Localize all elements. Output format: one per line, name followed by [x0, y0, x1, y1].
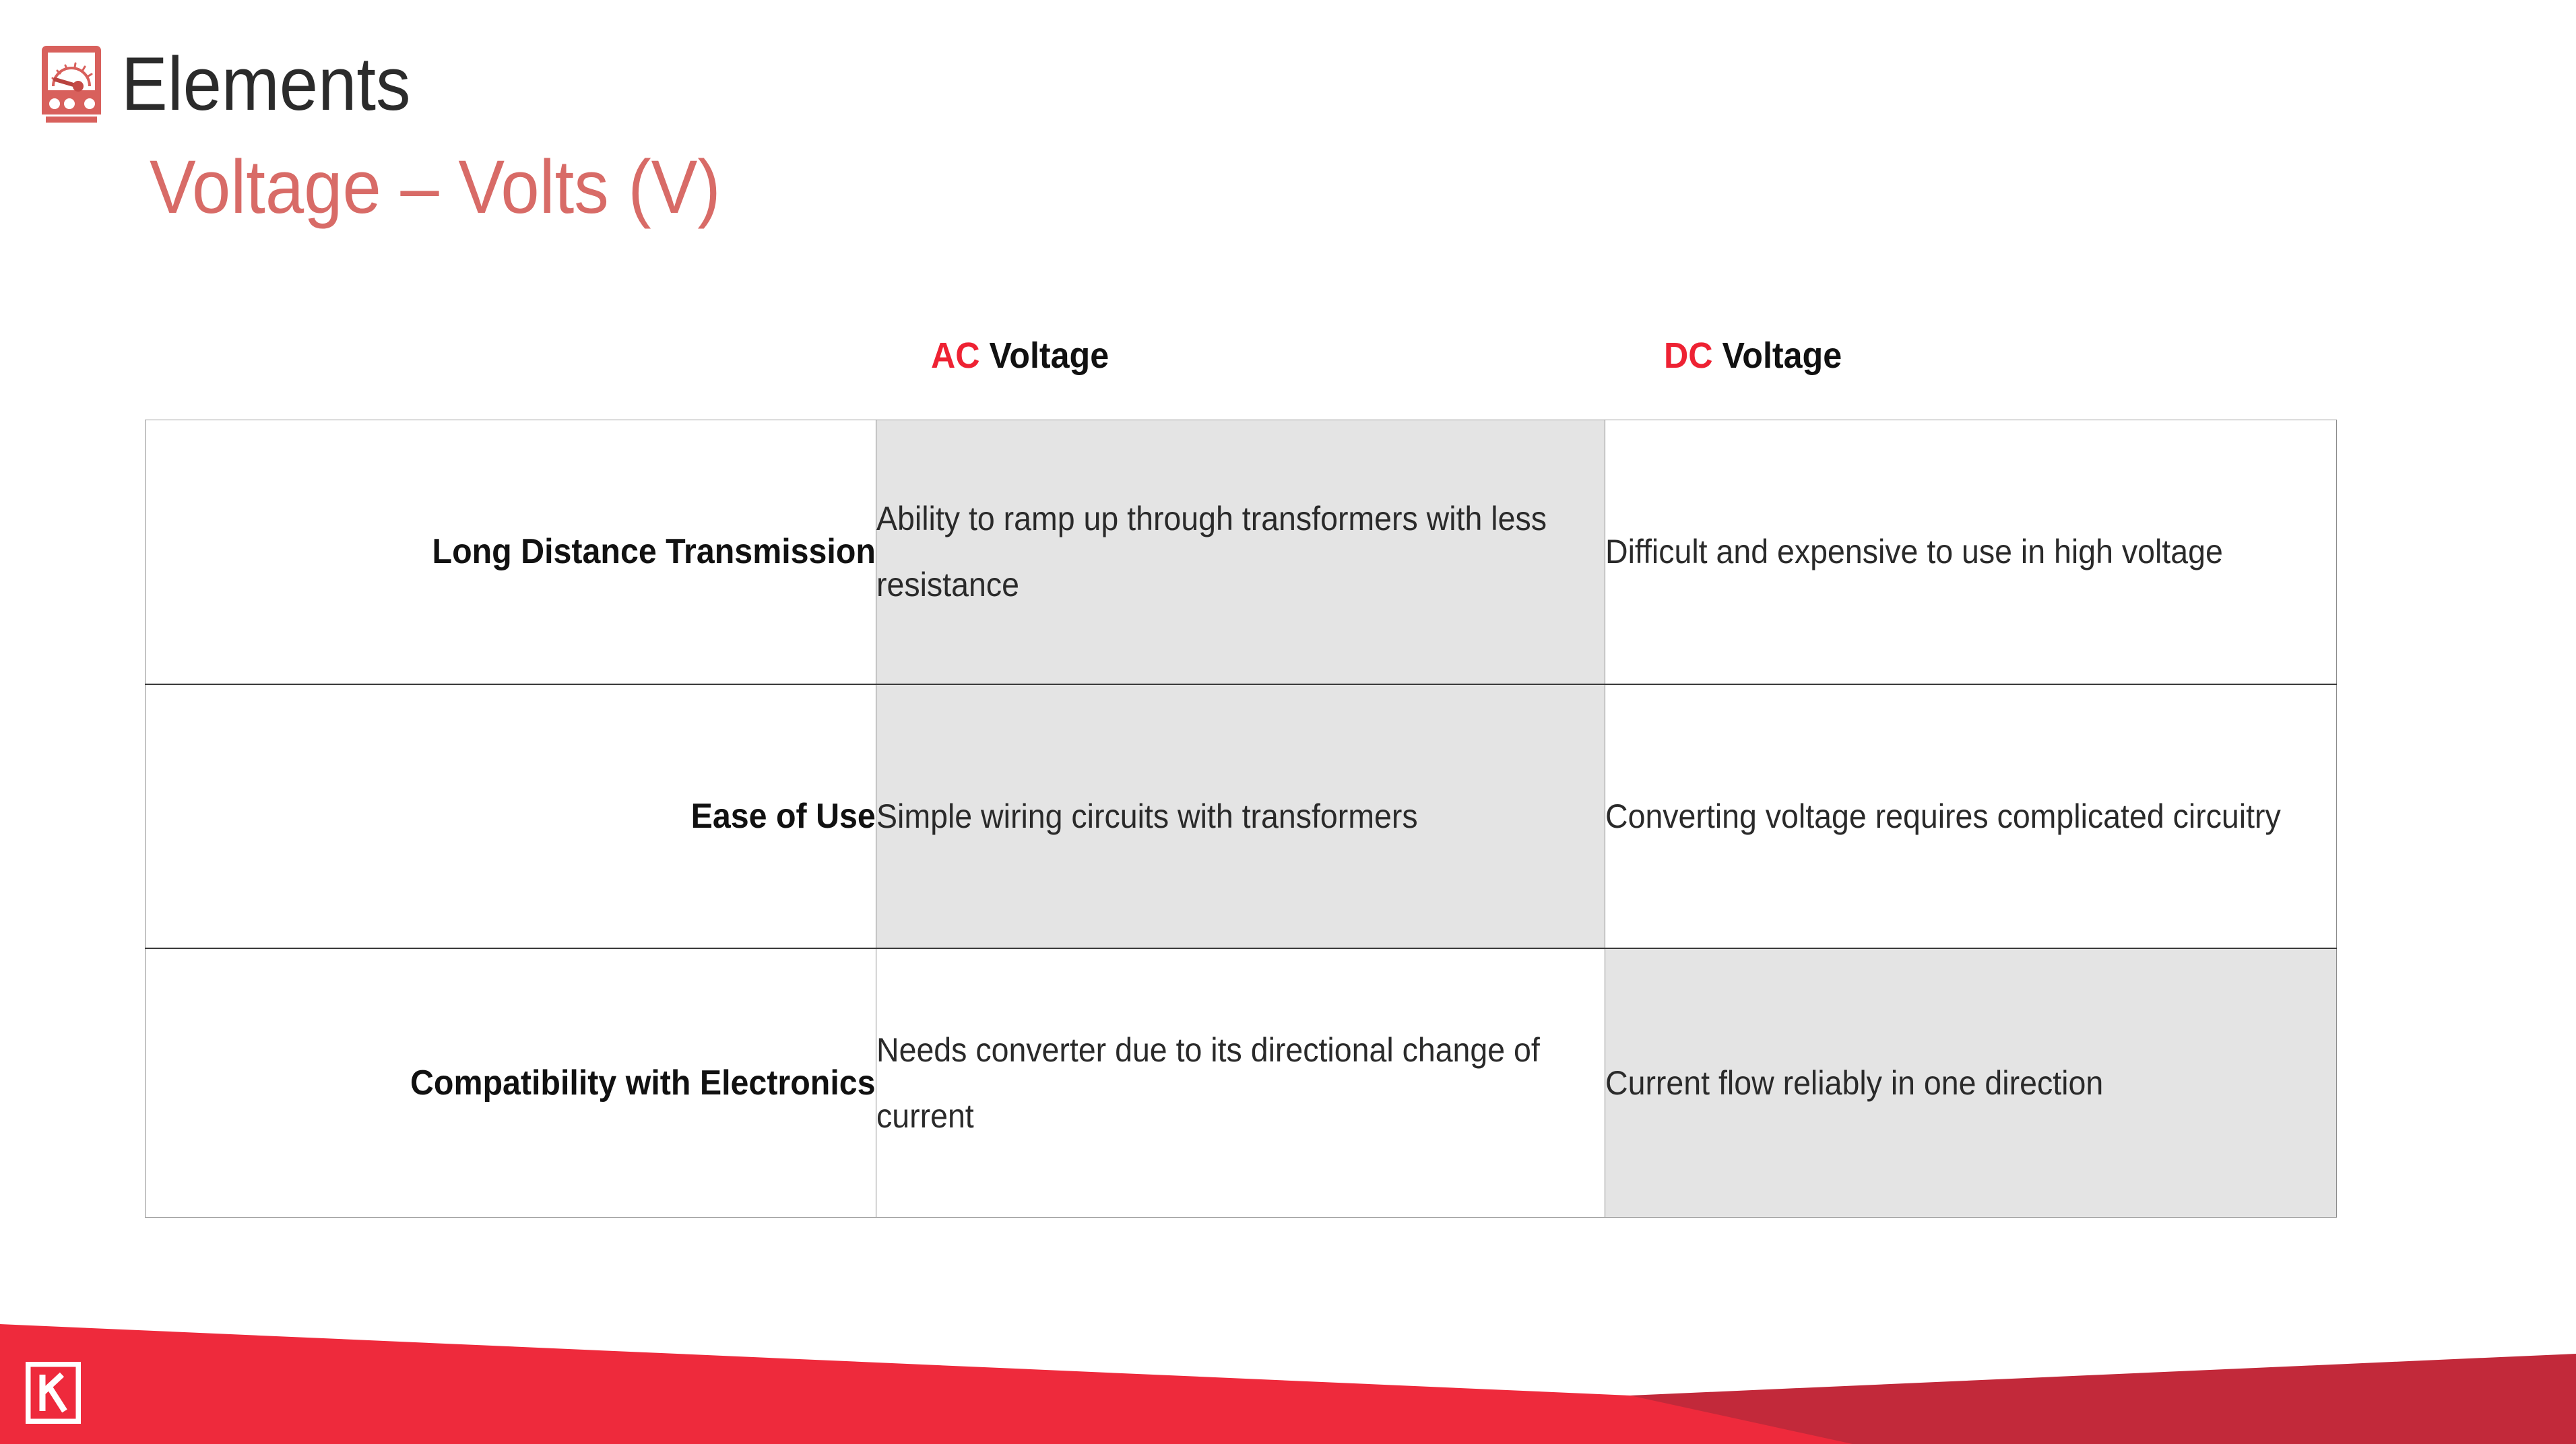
row-dc-text: Difficult and expensive to use in high v… [1605, 519, 2223, 585]
row-dc-cell: Difficult and expensive to use in high v… [1605, 420, 2337, 684]
row-label-text: Ease of Use [691, 795, 876, 837]
row-label-text: Compatibility with Electronics [410, 1062, 876, 1104]
row-dc-cell: Current flow reliably in one direction [1605, 948, 2337, 1218]
column-header-ac: AC Voltage [931, 335, 1109, 376]
row-ac-cell: Ability to ramp up through transformers … [876, 420, 1605, 684]
column-header-dc: DC Voltage [1664, 335, 1842, 376]
column-header-ac-rest: Voltage [980, 335, 1109, 376]
row-ac-cell: Simple wiring circuits with transformers [876, 684, 1605, 948]
page-subtitle: Voltage – Volts (V) [150, 150, 721, 225]
k-logo-mark [26, 1362, 81, 1424]
row-label-cell: Ease of Use [146, 684, 876, 948]
slide-header: Elements Voltage – Volts (V) AC Voltage … [0, 0, 2576, 290]
voltage-comparison-table: Long Distance Transmission Ability to ra… [145, 420, 2337, 1218]
row-ac-cell: Needs converter due to its directional c… [876, 948, 1605, 1218]
table-row: Ease of Use Simple wiring circuits with … [146, 684, 2337, 948]
title-row: Elements [39, 40, 436, 128]
row-ac-text: Simple wiring circuits with transformers [876, 783, 1418, 849]
row-dc-text: Converting voltage requires complicated … [1605, 783, 2281, 849]
column-header-dc-accent: DC [1664, 335, 1713, 376]
table-row: Compatibility with Electronics Needs con… [146, 948, 2337, 1218]
voltmeter-icon [39, 44, 104, 124]
column-header-dc-rest: Voltage [1713, 335, 1842, 376]
footer-banner [0, 1282, 2576, 1444]
row-label-cell: Long Distance Transmission [146, 420, 876, 684]
table-row: Long Distance Transmission Ability to ra… [146, 420, 2337, 684]
row-dc-cell: Converting voltage requires complicated … [1605, 684, 2337, 948]
row-label-text: Long Distance Transmission [432, 531, 876, 572]
row-label-cell: Compatibility with Electronics [146, 948, 876, 1218]
row-ac-text: Needs converter due to its directional c… [876, 1017, 1553, 1149]
row-ac-text: Ability to ramp up through transformers … [876, 486, 1553, 618]
row-dc-text: Current flow reliably in one direction [1605, 1050, 2103, 1116]
page-title: Elements [121, 46, 411, 122]
column-header-ac-accent: AC [931, 335, 980, 376]
